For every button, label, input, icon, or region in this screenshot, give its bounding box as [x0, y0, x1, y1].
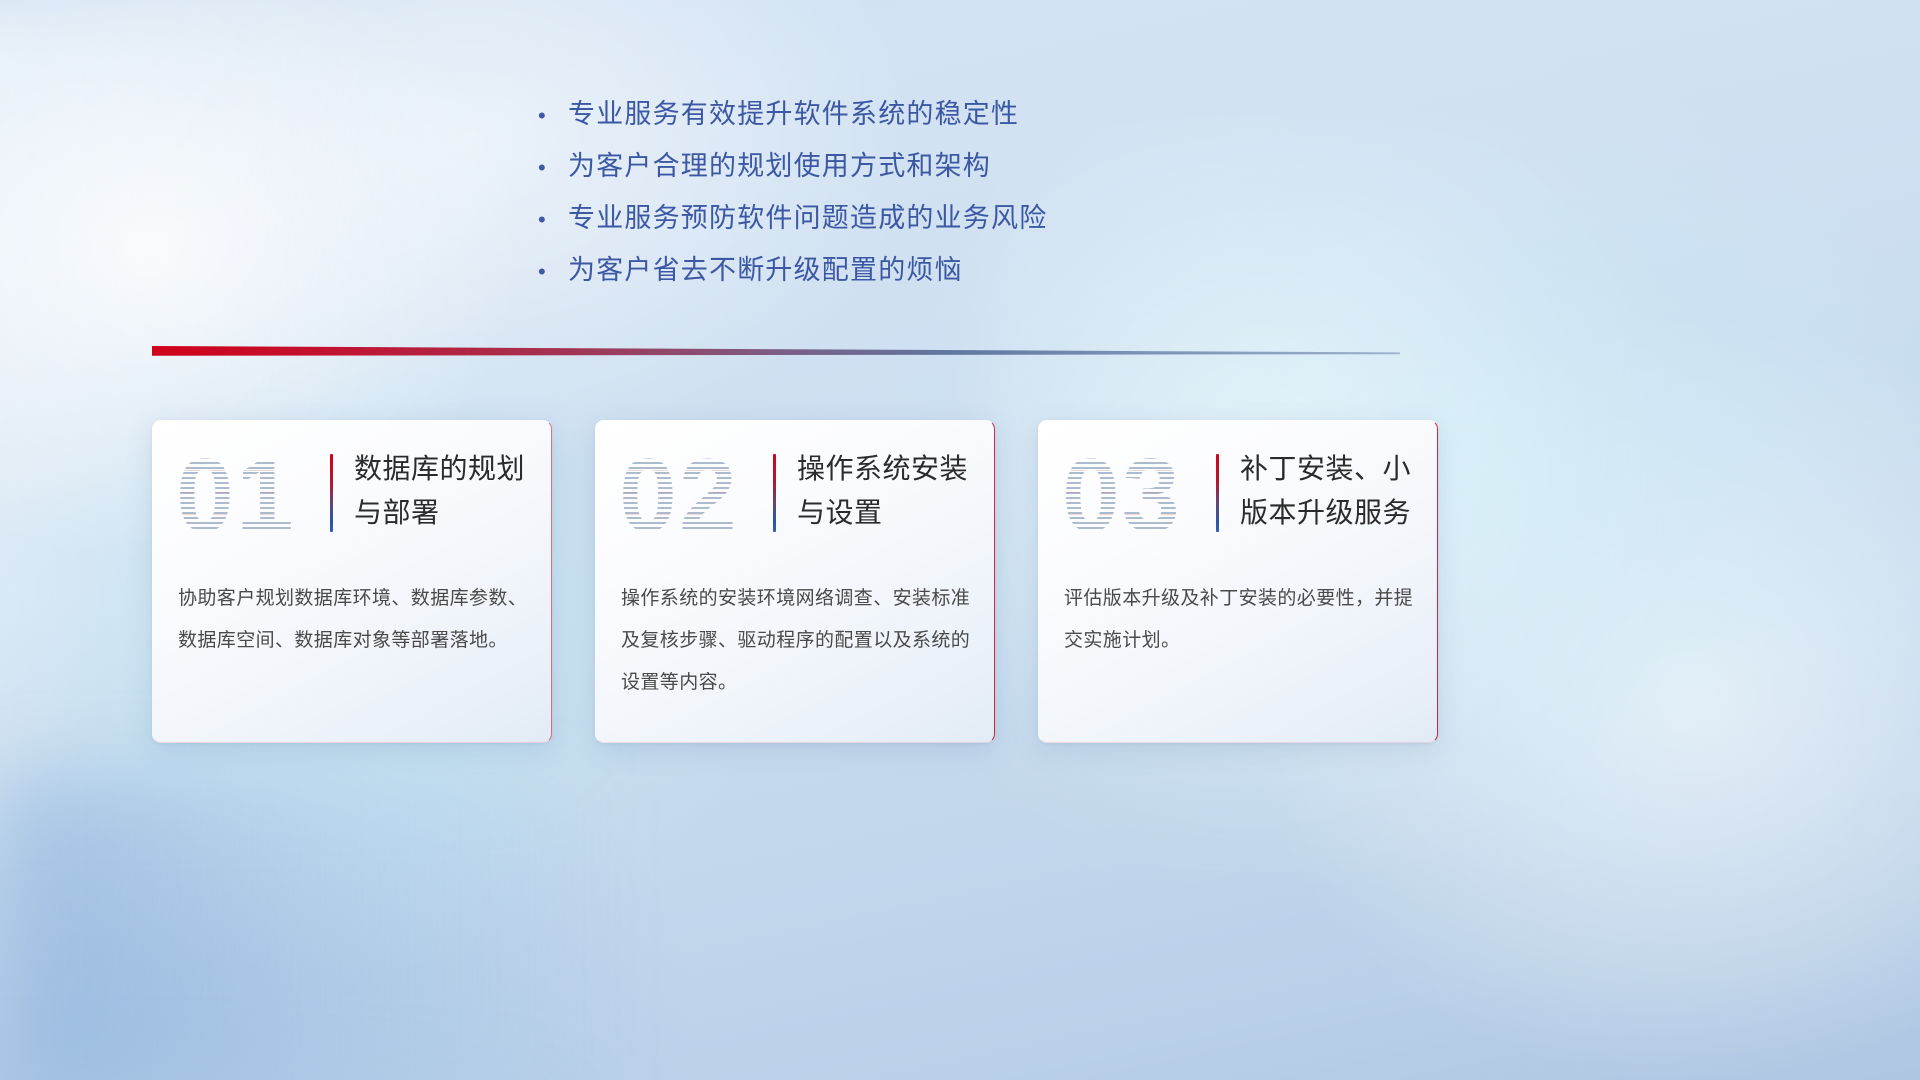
bullet-dot-icon: •	[538, 142, 568, 194]
bullet-dot-icon: •	[538, 246, 568, 298]
card-number-watermark-tint: 01	[176, 442, 316, 550]
card-body-text: 协助客户规划数据库环境、数据库参数、数据库空间、数据库对象等部署落地。	[178, 578, 528, 662]
card-number-watermark: 03	[1062, 442, 1202, 550]
card-number-watermark: 02	[619, 442, 759, 550]
background-glow-bottom-left	[0, 780, 620, 1080]
list-item: • 为客户省去不断升级配置的烦恼	[538, 244, 1298, 296]
list-item: • 专业服务有效提升软件系统的稳定性	[538, 88, 1298, 140]
list-item: • 专业服务预防软件问题造成的业务风险	[538, 192, 1298, 244]
service-card-row: 01 01 数据库的规划与部署 协助客户规划数据库环境、数据库参数、数据库空间、…	[152, 420, 1768, 745]
slide-canvas: • 专业服务有效提升软件系统的稳定性 • 为客户合理的规划使用方式和架构 • 专…	[0, 0, 1920, 1080]
card-title: 补丁安装、小版本升级服务	[1240, 447, 1420, 535]
bullet-text: 为客户合理的规划使用方式和架构	[568, 140, 991, 192]
bullet-dot-icon: •	[538, 194, 568, 246]
section-divider	[152, 344, 1400, 362]
section-divider-shape	[152, 344, 1400, 362]
bullet-text: 专业服务预防软件问题造成的业务风险	[568, 192, 1047, 244]
card-number-watermark-tint: 03	[1062, 442, 1202, 550]
service-card[interactable]: 01 01 数据库的规划与部署 协助客户规划数据库环境、数据库参数、数据库空间、…	[152, 420, 552, 743]
card-number-watermark-tint: 02	[619, 442, 759, 550]
bullet-dot-icon: •	[538, 90, 568, 142]
card-title-rule	[1216, 454, 1219, 532]
benefits-bullet-list: • 专业服务有效提升软件系统的稳定性 • 为客户合理的规划使用方式和架构 • 专…	[538, 88, 1298, 296]
card-body-text: 评估版本升级及补丁安装的必要性，并提交实施计划。	[1064, 578, 1414, 662]
card-title-rule	[330, 454, 333, 532]
bullet-text: 为客户省去不断升级配置的烦恼	[568, 244, 963, 296]
list-item: • 为客户合理的规划使用方式和架构	[538, 140, 1298, 192]
card-number-watermark: 01	[176, 442, 316, 550]
service-card[interactable]: 03 03 补丁安装、小版本升级服务 评估版本升级及补丁安装的必要性，并提交实施…	[1038, 420, 1438, 743]
bullet-text: 专业服务有效提升软件系统的稳定性	[568, 88, 1019, 140]
card-title: 数据库的规划与部署	[354, 447, 534, 535]
card-title-rule	[773, 454, 776, 532]
card-body-text: 操作系统的安装环境网络调查、安装标准及复核步骤、驱动程序的配置以及系统的设置等内…	[621, 578, 971, 704]
card-title: 操作系统安装与设置	[797, 447, 977, 535]
service-card[interactable]: 02 02 操作系统安装与设置 操作系统的安装环境网络调查、安装标准及复核步骤、…	[595, 420, 995, 743]
